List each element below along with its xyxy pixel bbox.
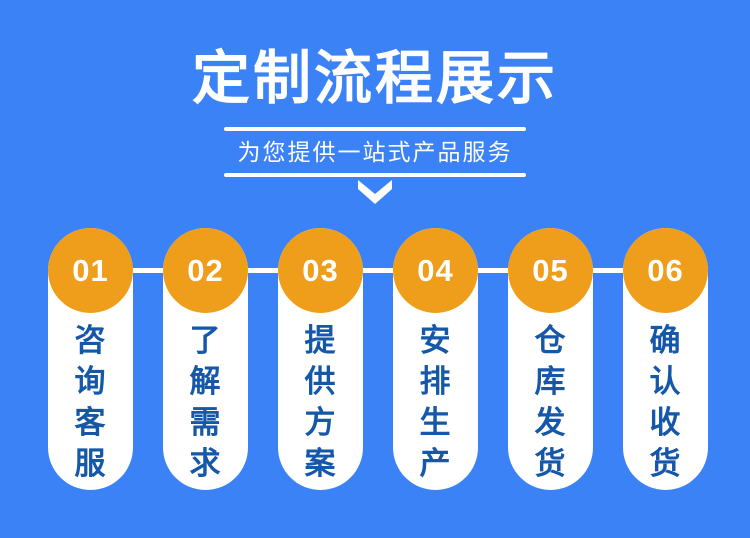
step-label-char: 询 xyxy=(75,361,107,402)
step-label: 了解需求 xyxy=(163,320,248,486)
step-label-char: 安 xyxy=(420,320,452,361)
step-card[interactable]: 03提供方案 xyxy=(278,228,363,490)
step-label-char: 求 xyxy=(190,443,222,484)
step-card[interactable]: 04安排生产 xyxy=(393,228,478,490)
step-label-char: 案 xyxy=(305,443,337,484)
subtitle-block: 为您提供一站式产品服务 xyxy=(0,127,750,177)
step-label-char: 发 xyxy=(535,402,567,443)
page-subtitle: 为您提供一站式产品服务 xyxy=(0,131,750,173)
chevron-down-icon xyxy=(358,180,392,204)
step-connector xyxy=(244,268,282,273)
step-connector xyxy=(589,268,627,273)
step-label-char: 认 xyxy=(650,361,682,402)
step-label-char: 了 xyxy=(190,320,222,361)
step-card[interactable]: 02了解需求 xyxy=(163,228,248,490)
step-label-char: 需 xyxy=(190,402,222,443)
step-label: 咨询客服 xyxy=(48,320,133,486)
step-label: 安排生产 xyxy=(393,320,478,486)
arrow-container xyxy=(0,180,750,208)
step-connector xyxy=(129,268,167,273)
step-label-char: 货 xyxy=(650,443,682,484)
step-label-char: 提 xyxy=(305,320,337,361)
step-label-char: 供 xyxy=(305,361,337,402)
step-label: 提供方案 xyxy=(278,320,363,486)
step-number-badge: 05 xyxy=(508,228,593,313)
step-label: 仓库发货 xyxy=(508,320,593,486)
step-label-char: 确 xyxy=(650,320,682,361)
divider-bottom xyxy=(224,173,526,177)
step-number-badge: 03 xyxy=(278,228,363,313)
process-steps: 01咨询客服02了解需求03提供方案04安排生产05仓库发货06确认收货 xyxy=(0,228,750,492)
step-number-badge: 01 xyxy=(48,228,133,313)
step-card[interactable]: 06确认收货 xyxy=(623,228,708,490)
step-number-badge: 02 xyxy=(163,228,248,313)
promo-banner: 定制流程展示 为您提供一站式产品服务 01咨询客服02了解需求03提供方案04安… xyxy=(0,0,750,538)
step-label-char: 生 xyxy=(420,402,452,443)
step-label-char: 仓 xyxy=(535,320,567,361)
step-label-char: 咨 xyxy=(75,320,107,361)
step-label-char: 库 xyxy=(535,361,567,402)
step-label-char: 排 xyxy=(420,361,452,402)
step-label-char: 客 xyxy=(75,402,107,443)
step-label-char: 产 xyxy=(420,443,452,484)
step-connector xyxy=(359,268,397,273)
step-label-char: 方 xyxy=(305,402,337,443)
page-title: 定制流程展示 xyxy=(0,47,750,111)
step-number-badge: 04 xyxy=(393,228,478,313)
step-label-char: 收 xyxy=(650,402,682,443)
step-number-badge: 06 xyxy=(623,228,708,313)
step-label-char: 解 xyxy=(190,361,222,402)
step-card[interactable]: 01咨询客服 xyxy=(48,228,133,490)
step-card[interactable]: 05仓库发货 xyxy=(508,228,593,490)
step-label-char: 货 xyxy=(535,443,567,484)
step-label: 确认收货 xyxy=(623,320,708,486)
step-connector xyxy=(474,268,512,273)
step-label-char: 服 xyxy=(75,443,107,484)
